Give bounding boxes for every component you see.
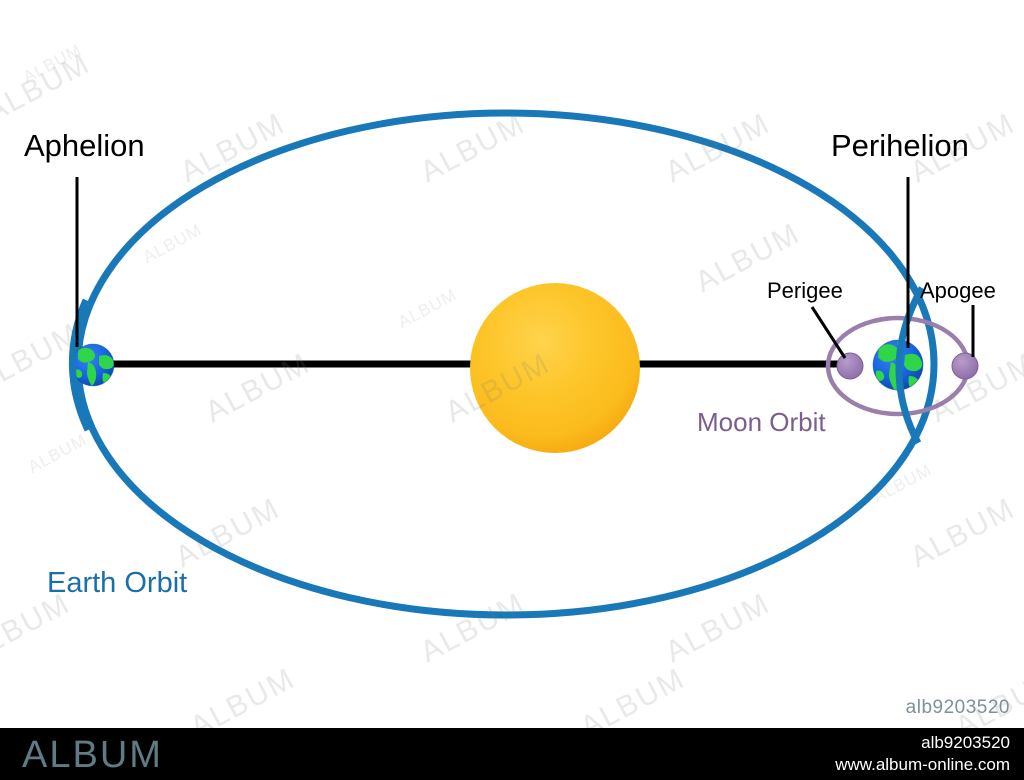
- album-logo: ALBUM: [22, 734, 163, 777]
- perigee-leader-line: [812, 307, 845, 358]
- label-perihelion: Perihelion: [831, 128, 969, 164]
- asset-id-top: alb9203520: [906, 697, 1010, 719]
- label-aphelion: Aphelion: [24, 128, 145, 164]
- label-earth-orbit: Earth Orbit: [47, 567, 187, 600]
- screenshot-root: ALBUM ALBUM ALBUM ALBUM ALBUM ALBUM ALBU…: [0, 0, 1024, 780]
- earth-aphelion: [72, 344, 114, 386]
- label-perigee: Perigee: [767, 278, 843, 304]
- footer-url[interactable]: www.album-online.com: [835, 754, 1010, 776]
- label-apogee: Apogee: [920, 278, 996, 304]
- sun-body: [470, 283, 640, 453]
- footer-asset-id: alb9203520: [835, 732, 1010, 754]
- footer-credits: alb9203520 www.album-online.com: [835, 732, 1010, 776]
- label-moon-orbit: Moon Orbit: [697, 407, 826, 438]
- orbit-diagram: [0, 0, 1024, 728]
- perigee-node: [837, 353, 863, 379]
- footer-bar: ALBUM alb9203520 www.album-online.com: [0, 728, 1024, 780]
